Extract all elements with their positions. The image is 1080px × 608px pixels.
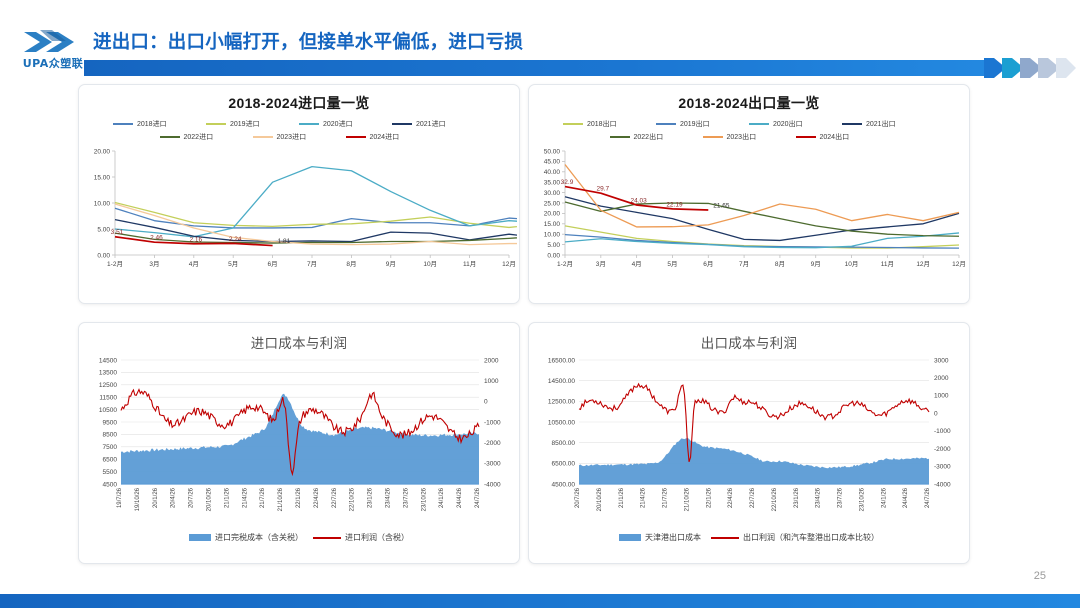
legend-label: 进口完税成本（含关税）: [215, 532, 303, 543]
legend-swatch-line: [711, 537, 739, 539]
plot-export-cost: 16500.0014500.0012500.0010500.008500.006…: [529, 352, 969, 530]
svg-text:24/4/26: 24/4/26: [903, 487, 909, 508]
svg-text:40.00: 40.00: [544, 169, 561, 176]
legend-label: 2021进口: [416, 119, 446, 129]
svg-text:12500: 12500: [99, 382, 117, 389]
legend-item: 2018出口: [563, 119, 656, 129]
legend-label: 2023进口: [277, 132, 307, 142]
svg-text:20/7/26: 20/7/26: [575, 487, 581, 508]
svg-text:22/7/26: 22/7/26: [332, 487, 338, 508]
export-volume-plot-svg: 0.005.0010.0015.0020.0025.0030.0035.0040…: [529, 145, 967, 277]
svg-text:1000: 1000: [484, 378, 499, 385]
legend-swatch: [749, 123, 769, 125]
legend-swatch: [206, 123, 226, 125]
chart-title-export-cost: 出口成本与利润: [529, 332, 969, 352]
svg-text:21/7/26: 21/7/26: [260, 487, 266, 508]
svg-text:-4000: -4000: [934, 481, 951, 488]
svg-text:7500: 7500: [103, 444, 118, 451]
chart-title-import-cost: 进口成本与利润: [79, 332, 519, 352]
svg-text:-1000: -1000: [934, 428, 951, 435]
legend-item: 2021进口: [392, 119, 485, 129]
chevron-arrows-icon: [984, 58, 1076, 78]
svg-text:10.00: 10.00: [94, 200, 111, 207]
svg-text:-2000: -2000: [484, 440, 501, 447]
svg-text:23/7/26: 23/7/26: [403, 487, 409, 508]
legend-label: 2019进口: [230, 119, 260, 129]
svg-text:10500: 10500: [99, 407, 117, 414]
svg-text:5.00: 5.00: [97, 226, 110, 233]
svg-text:20/7/26: 20/7/26: [189, 487, 195, 508]
legend-label: 2024出口: [820, 132, 850, 142]
legend-swatch: [160, 136, 180, 138]
svg-text:23/1/26: 23/1/26: [368, 487, 374, 508]
svg-text:-2000: -2000: [934, 446, 951, 453]
svg-text:1-2月: 1-2月: [557, 260, 573, 268]
legend-label: 天津港出口成本: [645, 532, 701, 543]
legend-swatch: [703, 136, 723, 138]
chart-card-export-cost: 出口成本与利润 16500.0014500.0012500.0010500.00…: [528, 322, 970, 564]
svg-text:23/7/26: 23/7/26: [838, 487, 844, 508]
legend-item: 2023进口: [253, 132, 346, 142]
legend-swatch: [299, 123, 319, 125]
svg-text:23/10/26: 23/10/26: [859, 487, 865, 511]
svg-text:22/10/26: 22/10/26: [350, 487, 356, 511]
legend-label: 2022出口: [634, 132, 664, 142]
legend-swatch-area: [619, 534, 641, 541]
legend-label: 2021出口: [866, 119, 896, 129]
legend-label: 2023出口: [727, 132, 757, 142]
svg-text:9500: 9500: [103, 419, 118, 426]
svg-text:15.00: 15.00: [544, 221, 561, 228]
svg-text:9月: 9月: [386, 260, 396, 268]
svg-text:24/7/26: 24/7/26: [925, 487, 931, 508]
svg-text:8月: 8月: [346, 260, 356, 268]
svg-text:6月: 6月: [268, 260, 278, 268]
svg-text:5500: 5500: [103, 469, 118, 476]
svg-text:23/4/26: 23/4/26: [386, 487, 392, 508]
svg-text:45.00: 45.00: [544, 159, 561, 166]
svg-text:15.00: 15.00: [94, 174, 111, 181]
chevron-decoration: [984, 58, 1076, 78]
svg-text:30.00: 30.00: [544, 190, 561, 197]
svg-text:22/4/26: 22/4/26: [314, 487, 320, 508]
svg-text:13500: 13500: [99, 370, 117, 377]
chart-card-import-cost: 进口成本与利润 14500135001250011500105009500850…: [78, 322, 520, 564]
legend-swatch: [842, 123, 862, 125]
footer-accent-bar: [0, 594, 1080, 608]
legend-label: 2020出口: [773, 119, 803, 129]
legend-label: 2020进口: [323, 119, 353, 129]
legend-label: 进口利润（含税）: [345, 532, 409, 543]
legend-item: 2023出口: [703, 132, 796, 142]
logo-text: UPA众塑联: [12, 55, 94, 71]
svg-text:4500: 4500: [103, 481, 118, 488]
plot-import-volume: 0.005.0010.0015.0020.001-2月3月4月5月6月7月8月9…: [79, 145, 519, 277]
legend-item: 2020进口: [299, 119, 392, 129]
svg-text:12500.00: 12500.00: [548, 399, 575, 406]
legend-import-cost: 进口完税成本（含关税） 进口利润（含税）: [79, 532, 519, 543]
svg-text:5月: 5月: [228, 260, 238, 268]
chart-title-import-volume: 2018-2024进口量一览: [79, 93, 519, 113]
svg-text:3月: 3月: [596, 260, 606, 268]
logo: UPA众塑联: [8, 28, 94, 74]
svg-text:0.00: 0.00: [97, 252, 110, 259]
svg-text:3月: 3月: [149, 260, 159, 268]
svg-text:21/7/26: 21/7/26: [663, 487, 669, 508]
svg-text:10月: 10月: [423, 260, 437, 268]
svg-text:23/4/26: 23/4/26: [816, 487, 822, 508]
svg-text:0: 0: [934, 410, 938, 417]
import-cost-plot-svg: 1450013500125001150010500950085007500650…: [79, 352, 517, 530]
svg-text:24/1/26: 24/1/26: [439, 487, 445, 508]
svg-text:8500.00: 8500.00: [552, 440, 576, 447]
svg-text:19/10/26: 19/10/26: [135, 487, 141, 511]
legend-item: 出口利润（和汽车整港出口成本比较）: [711, 532, 879, 543]
svg-text:2.16: 2.16: [189, 236, 202, 243]
svg-text:22.19: 22.19: [666, 201, 683, 208]
legend-item: 进口完税成本（含关税）: [189, 532, 303, 543]
legend-item: 2020出口: [749, 119, 842, 129]
svg-text:6月: 6月: [703, 260, 713, 268]
legend-swatch: [113, 123, 133, 125]
svg-text:29.7: 29.7: [596, 186, 609, 193]
svg-text:22/1/26: 22/1/26: [706, 487, 712, 508]
svg-text:2000: 2000: [934, 375, 949, 382]
svg-text:8月: 8月: [775, 260, 785, 268]
svg-text:4月: 4月: [189, 260, 199, 268]
svg-text:22/4/26: 22/4/26: [728, 487, 734, 508]
svg-text:50.00: 50.00: [544, 148, 561, 155]
svg-text:12月: 12月: [916, 260, 930, 268]
svg-text:20/4/26: 20/4/26: [171, 487, 177, 508]
svg-text:24/7/26: 24/7/26: [475, 487, 481, 508]
page-header: UPA众塑联 进出口：出口小幅打开，但接单水平偏低，进口亏损: [0, 0, 1080, 80]
chart-title-export-volume: 2018-2024出口量一览: [529, 93, 969, 113]
export-cost-plot-svg: 16500.0014500.0012500.0010500.008500.006…: [529, 352, 967, 530]
legend-label: 2019出口: [680, 119, 710, 129]
svg-text:23/10/26: 23/10/26: [421, 487, 427, 511]
svg-text:20/10/26: 20/10/26: [207, 487, 213, 511]
import-volume-plot-svg: 0.005.0010.0015.0020.001-2月3月4月5月6月7月8月9…: [79, 145, 517, 277]
svg-text:-3000: -3000: [934, 464, 951, 471]
svg-text:24/4/26: 24/4/26: [457, 487, 463, 508]
legend-item: 2024进口: [346, 132, 439, 142]
legend-swatch: [656, 123, 676, 125]
svg-text:10500.00: 10500.00: [548, 419, 575, 426]
svg-text:1.81: 1.81: [278, 238, 291, 245]
legend-label: 2022进口: [184, 132, 214, 142]
svg-text:7月: 7月: [739, 260, 749, 268]
svg-text:25.00: 25.00: [544, 200, 561, 207]
legend-label: 2018出口: [587, 119, 617, 129]
legend-export-volume: 2018出口 2019出口 2020出口 2021出口 2022出口 2023出…: [563, 119, 935, 145]
svg-text:5.00: 5.00: [547, 242, 560, 249]
svg-text:11500: 11500: [99, 395, 117, 402]
legend-item: 2019进口: [206, 119, 299, 129]
svg-text:14500: 14500: [99, 357, 117, 364]
svg-text:23/1/26: 23/1/26: [794, 487, 800, 508]
svg-text:6500.00: 6500.00: [552, 461, 576, 468]
legend-item: 2024出口: [796, 132, 889, 142]
legend-swatch: [610, 136, 630, 138]
svg-text:-1000: -1000: [484, 419, 501, 426]
svg-text:21/1/26: 21/1/26: [224, 487, 230, 508]
svg-text:14500.00: 14500.00: [548, 378, 575, 385]
svg-text:8500: 8500: [103, 432, 118, 439]
legend-import-volume: 2018进口 2019进口 2020进口 2021进口 2022进口 2023进…: [113, 119, 485, 145]
legend-item: 2019出口: [656, 119, 749, 129]
chart-card-export-volume: 2018-2024出口量一览 2018出口 2019出口 2020出口 2021…: [528, 84, 970, 304]
plot-import-cost: 1450013500125001150010500950085007500650…: [79, 352, 519, 530]
svg-text:4500.00: 4500.00: [552, 481, 576, 488]
legend-swatch: [796, 136, 816, 139]
title-accent-bar: [84, 60, 984, 76]
svg-text:20/1/26: 20/1/26: [153, 487, 159, 508]
svg-text:32.9: 32.9: [561, 179, 574, 186]
svg-text:7月: 7月: [307, 260, 317, 268]
legend-swatch: [346, 136, 366, 139]
svg-text:1000: 1000: [934, 393, 949, 400]
svg-text:22/1/26: 22/1/26: [296, 487, 302, 508]
page-number: 25: [1034, 570, 1046, 582]
page-title: 进出口：出口小幅打开，但接单水平偏低，进口亏损: [93, 28, 523, 54]
legend-item: 天津港出口成本: [619, 532, 701, 543]
legend-label: 2024进口: [370, 132, 400, 142]
svg-text:5月: 5月: [667, 260, 677, 268]
svg-text:10.00: 10.00: [544, 232, 561, 239]
legend-item: 2022出口: [610, 132, 703, 142]
svg-text:11月: 11月: [463, 260, 476, 268]
svg-text:2000: 2000: [484, 357, 499, 364]
svg-text:16500.00: 16500.00: [548, 357, 575, 364]
legend-label: 2018进口: [137, 119, 167, 129]
legend-swatch: [253, 136, 273, 138]
upa-chevron-logo-icon: [22, 28, 80, 56]
svg-text:22/10/26: 22/10/26: [772, 487, 778, 511]
svg-text:21/1/26: 21/1/26: [619, 487, 625, 508]
svg-text:-4000: -4000: [484, 481, 501, 488]
legend-item: 进口利润（含税）: [313, 532, 409, 543]
svg-text:35.00: 35.00: [544, 180, 561, 187]
svg-text:-3000: -3000: [484, 461, 501, 468]
legend-export-cost: 天津港出口成本 出口利润（和汽车整港出口成本比较）: [529, 532, 969, 543]
legend-swatch: [392, 123, 412, 125]
svg-text:3000: 3000: [934, 357, 949, 364]
svg-text:12月: 12月: [502, 260, 516, 268]
svg-text:12月: 12月: [952, 260, 966, 268]
svg-text:20.00: 20.00: [544, 211, 561, 218]
svg-text:21/10/26: 21/10/26: [684, 487, 690, 511]
legend-item: 2021出口: [842, 119, 935, 129]
legend-label: 出口利润（和汽车整港出口成本比较）: [743, 532, 879, 543]
svg-text:1-2月: 1-2月: [107, 260, 123, 268]
svg-text:20.00: 20.00: [94, 148, 111, 155]
legend-swatch: [563, 123, 583, 125]
legend-swatch-area: [189, 534, 211, 541]
svg-text:21.65: 21.65: [713, 202, 730, 209]
svg-text:21/10/26: 21/10/26: [278, 487, 284, 511]
svg-text:4月: 4月: [632, 260, 642, 268]
svg-text:2.46: 2.46: [150, 235, 163, 242]
legend-swatch-line: [313, 537, 341, 539]
legend-item: 2018进口: [113, 119, 206, 129]
svg-text:19/7/26: 19/7/26: [117, 487, 123, 508]
svg-text:9月: 9月: [811, 260, 821, 268]
svg-text:10月: 10月: [845, 260, 859, 268]
svg-text:6500: 6500: [103, 457, 118, 464]
legend-item: 2022进口: [160, 132, 253, 142]
plot-export-volume: 0.005.0010.0015.0020.0025.0030.0035.0040…: [529, 145, 969, 277]
svg-text:21/4/26: 21/4/26: [641, 487, 647, 508]
svg-text:21/4/26: 21/4/26: [242, 487, 248, 508]
svg-text:0: 0: [484, 399, 488, 406]
svg-text:20/10/26: 20/10/26: [597, 487, 603, 511]
svg-text:3.51: 3.51: [111, 229, 124, 236]
svg-text:0.00: 0.00: [547, 252, 560, 259]
svg-text:24.03: 24.03: [630, 198, 647, 205]
chart-card-import-volume: 2018-2024进口量一览 2018进口 2019进口 2020进口 2021…: [78, 84, 520, 304]
svg-text:2.24: 2.24: [229, 236, 242, 243]
svg-text:11月: 11月: [881, 260, 894, 268]
svg-text:24/1/26: 24/1/26: [881, 487, 887, 508]
svg-text:22/7/26: 22/7/26: [750, 487, 756, 508]
